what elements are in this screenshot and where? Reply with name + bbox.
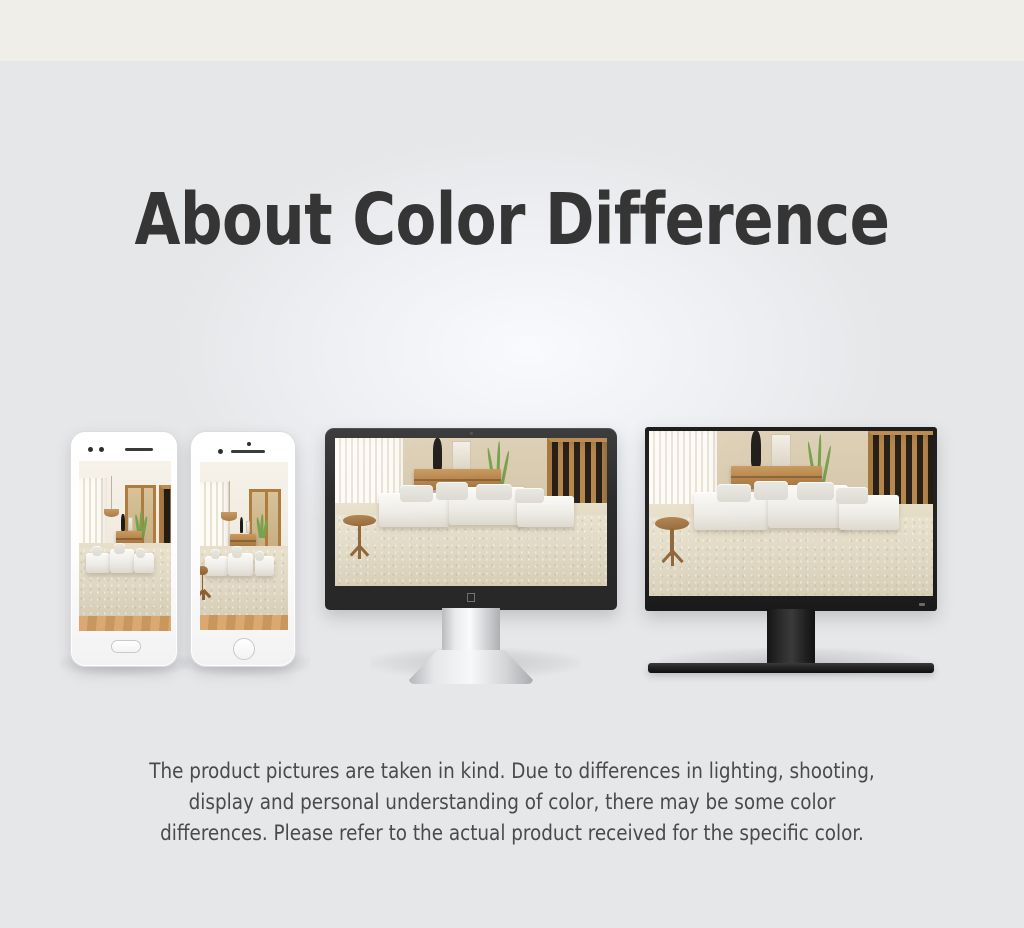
device-black-monitor[interactable] xyxy=(645,427,937,677)
earpiece-speaker xyxy=(231,450,265,453)
black-monitor-bezel xyxy=(645,427,937,611)
room-scene-artwork xyxy=(335,438,607,586)
room-scene-artwork xyxy=(79,461,171,631)
black-monitor-screen[interactable] xyxy=(649,431,933,596)
room-scene-artwork xyxy=(649,431,933,596)
device-phone-iphone[interactable] xyxy=(190,431,296,667)
page-title: About Color Difference xyxy=(36,178,988,262)
apple-display-bezel:  xyxy=(325,428,617,610)
side-table xyxy=(200,566,208,600)
phone-iphone-screen[interactable] xyxy=(200,462,288,630)
proximity-sensor-icon xyxy=(88,447,93,452)
webcam-icon xyxy=(470,432,473,435)
pendant-lamp xyxy=(104,509,119,518)
side-table xyxy=(343,515,376,559)
pendant-lamp xyxy=(221,512,237,520)
power-led-icon xyxy=(919,603,925,606)
side-table xyxy=(655,517,689,567)
black-monitor-stand-base xyxy=(648,663,934,673)
front-camera-icon xyxy=(99,447,104,452)
phone-android-screen[interactable] xyxy=(79,461,171,631)
home-button[interactable] xyxy=(233,638,255,660)
apple-display-stand-neck xyxy=(442,608,500,652)
device-phone-android[interactable] xyxy=(70,431,178,667)
device-apple-display[interactable]:  xyxy=(325,428,617,690)
front-camera-icon xyxy=(247,442,251,446)
caption-line-3: differences. Please refer to the actual … xyxy=(56,818,968,849)
top-background-band xyxy=(0,0,1024,61)
apple-display-stand-base xyxy=(409,650,533,684)
black-monitor-stand-neck xyxy=(767,609,815,665)
caption-line-1: The product pictures are taken in kind. … xyxy=(56,756,968,787)
caption-line-2: display and personal understanding of co… xyxy=(56,787,968,818)
color-difference-banner: About Color Difference xyxy=(0,0,1024,928)
home-button[interactable] xyxy=(111,640,141,653)
earpiece-speaker xyxy=(125,448,153,451)
apple-logo-icon:  xyxy=(465,591,477,605)
disclaimer-caption: The product pictures are taken in kind. … xyxy=(56,756,968,849)
apple-display-screen[interactable] xyxy=(335,438,607,586)
proximity-sensor-icon xyxy=(218,449,223,454)
device-showcase:  xyxy=(0,400,1024,700)
room-scene-artwork xyxy=(200,462,288,630)
